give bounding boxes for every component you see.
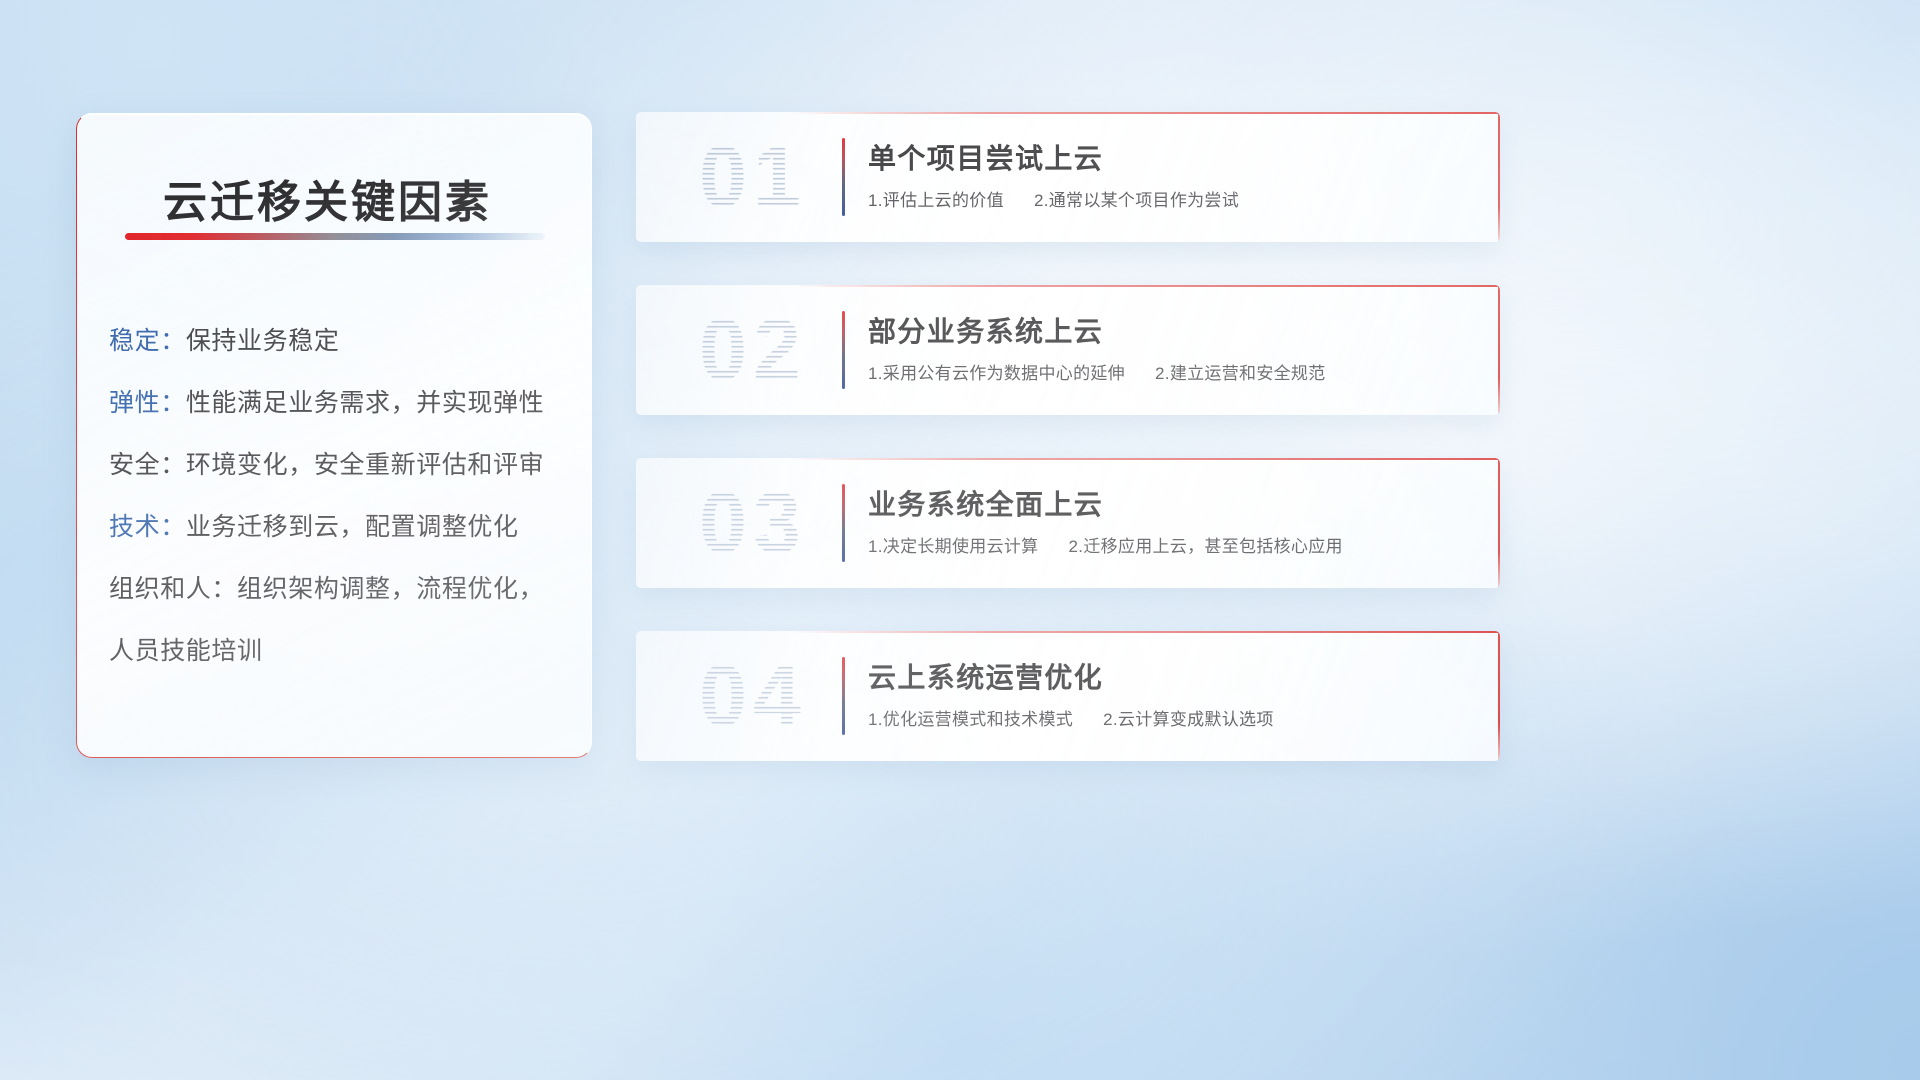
step-content: 云上系统运营优化 1.优化运营模式和技术模式 2.云计算变成默认选项: [868, 661, 1476, 731]
list-item: 稳定：保持业务稳定: [109, 310, 567, 372]
list-item-label: 安全：: [109, 451, 186, 479]
step-divider-accent: [842, 138, 845, 216]
step-title: 部分业务系统上云: [868, 315, 1476, 349]
list-item: 安全：环境变化，安全重新评估和评审: [109, 434, 567, 496]
list-item: 组织和人：组织架构调整，流程优化，人员技能培训: [109, 558, 567, 682]
step-divider-accent: [842, 311, 845, 389]
list-item: 弹性：性能满足业务需求，并实现弹性: [109, 372, 567, 434]
step-description-part-2: 2.通常以某个项目作为尝试: [1034, 191, 1239, 210]
list-item-text: 性能满足业务需求，并实现弹性: [186, 389, 544, 417]
page-title: 云迁移关键因素: [163, 166, 492, 230]
step-number-watermark: 02: [658, 298, 848, 402]
step-description-part-1: 1.决定长期使用云计算: [868, 537, 1038, 556]
migration-steps-list: 01 单个项目尝试上云 1.评估上云的价值 2.通常以某个项目作为尝试 02 部…: [636, 112, 1500, 804]
slide-canvas: 云迁移关键因素 稳定：保持业务稳定 弹性：性能满足业务需求，并实现弹性 安全：环…: [0, 0, 1920, 1080]
step-content: 单个项目尝试上云 1.评估上云的价值 2.通常以某个项目作为尝试: [868, 142, 1476, 212]
step-description-part-2: 2.建立运营和安全规范: [1155, 364, 1325, 383]
step-content: 部分业务系统上云 1.采用公有云作为数据中心的延伸 2.建立运营和安全规范: [868, 315, 1476, 385]
step-description: 1.评估上云的价值 2.通常以某个项目作为尝试: [868, 190, 1476, 212]
list-item-text: 业务迁移到云，配置调整优化: [186, 513, 519, 541]
list-item-label: 组织和人：: [109, 575, 237, 603]
list-item-label: 稳定：: [109, 327, 186, 355]
step-description-part-1: 1.优化运营模式和技术模式: [868, 710, 1073, 729]
step-content: 业务系统全面上云 1.决定长期使用云计算 2.迁移应用上云，甚至包括核心应用: [868, 488, 1476, 558]
list-item-text: 环境变化，安全重新评估和评审: [186, 451, 544, 479]
list-item-label: 弹性：: [109, 389, 186, 417]
list-item-label: 技术：: [109, 513, 186, 541]
step-divider-accent: [842, 484, 845, 562]
step-number-watermark: 01: [658, 125, 848, 229]
step-title: 云上系统运营优化: [868, 661, 1476, 695]
list-item-text: 保持业务稳定: [186, 327, 340, 355]
step-description: 1.优化运营模式和技术模式 2.云计算变成默认选项: [868, 709, 1476, 731]
key-factors-list: 稳定：保持业务稳定 弹性：性能满足业务需求，并实现弹性 安全：环境变化，安全重新…: [109, 310, 567, 682]
step-description-part-1: 1.评估上云的价值: [868, 191, 1004, 210]
step-number-watermark: 04: [658, 644, 848, 748]
step-card-02[interactable]: 02 部分业务系统上云 1.采用公有云作为数据中心的延伸 2.建立运营和安全规范: [636, 285, 1500, 415]
key-factors-card: 云迁移关键因素 稳定：保持业务稳定 弹性：性能满足业务需求，并实现弹性 安全：环…: [76, 113, 592, 758]
step-number-watermark: 03: [658, 471, 848, 575]
step-description-part-1: 1.采用公有云作为数据中心的延伸: [868, 364, 1125, 383]
step-description: 1.采用公有云作为数据中心的延伸 2.建立运营和安全规范: [868, 363, 1476, 385]
step-title: 业务系统全面上云: [868, 488, 1476, 522]
list-item: 技术：业务迁移到云，配置调整优化: [109, 496, 567, 558]
step-card-04[interactable]: 04 云上系统运营优化 1.优化运营模式和技术模式 2.云计算变成默认选项: [636, 631, 1500, 761]
step-card-03[interactable]: 03 业务系统全面上云 1.决定长期使用云计算 2.迁移应用上云，甚至包括核心应…: [636, 458, 1500, 588]
step-title: 单个项目尝试上云: [868, 142, 1476, 176]
step-description: 1.决定长期使用云计算 2.迁移应用上云，甚至包括核心应用: [868, 536, 1476, 558]
step-card-01[interactable]: 01 单个项目尝试上云 1.评估上云的价值 2.通常以某个项目作为尝试: [636, 112, 1500, 242]
step-description-part-2: 2.云计算变成默认选项: [1103, 710, 1273, 729]
title-underline-accent: [125, 233, 545, 240]
step-description-part-2: 2.迁移应用上云，甚至包括核心应用: [1069, 537, 1343, 556]
step-divider-accent: [842, 657, 845, 735]
